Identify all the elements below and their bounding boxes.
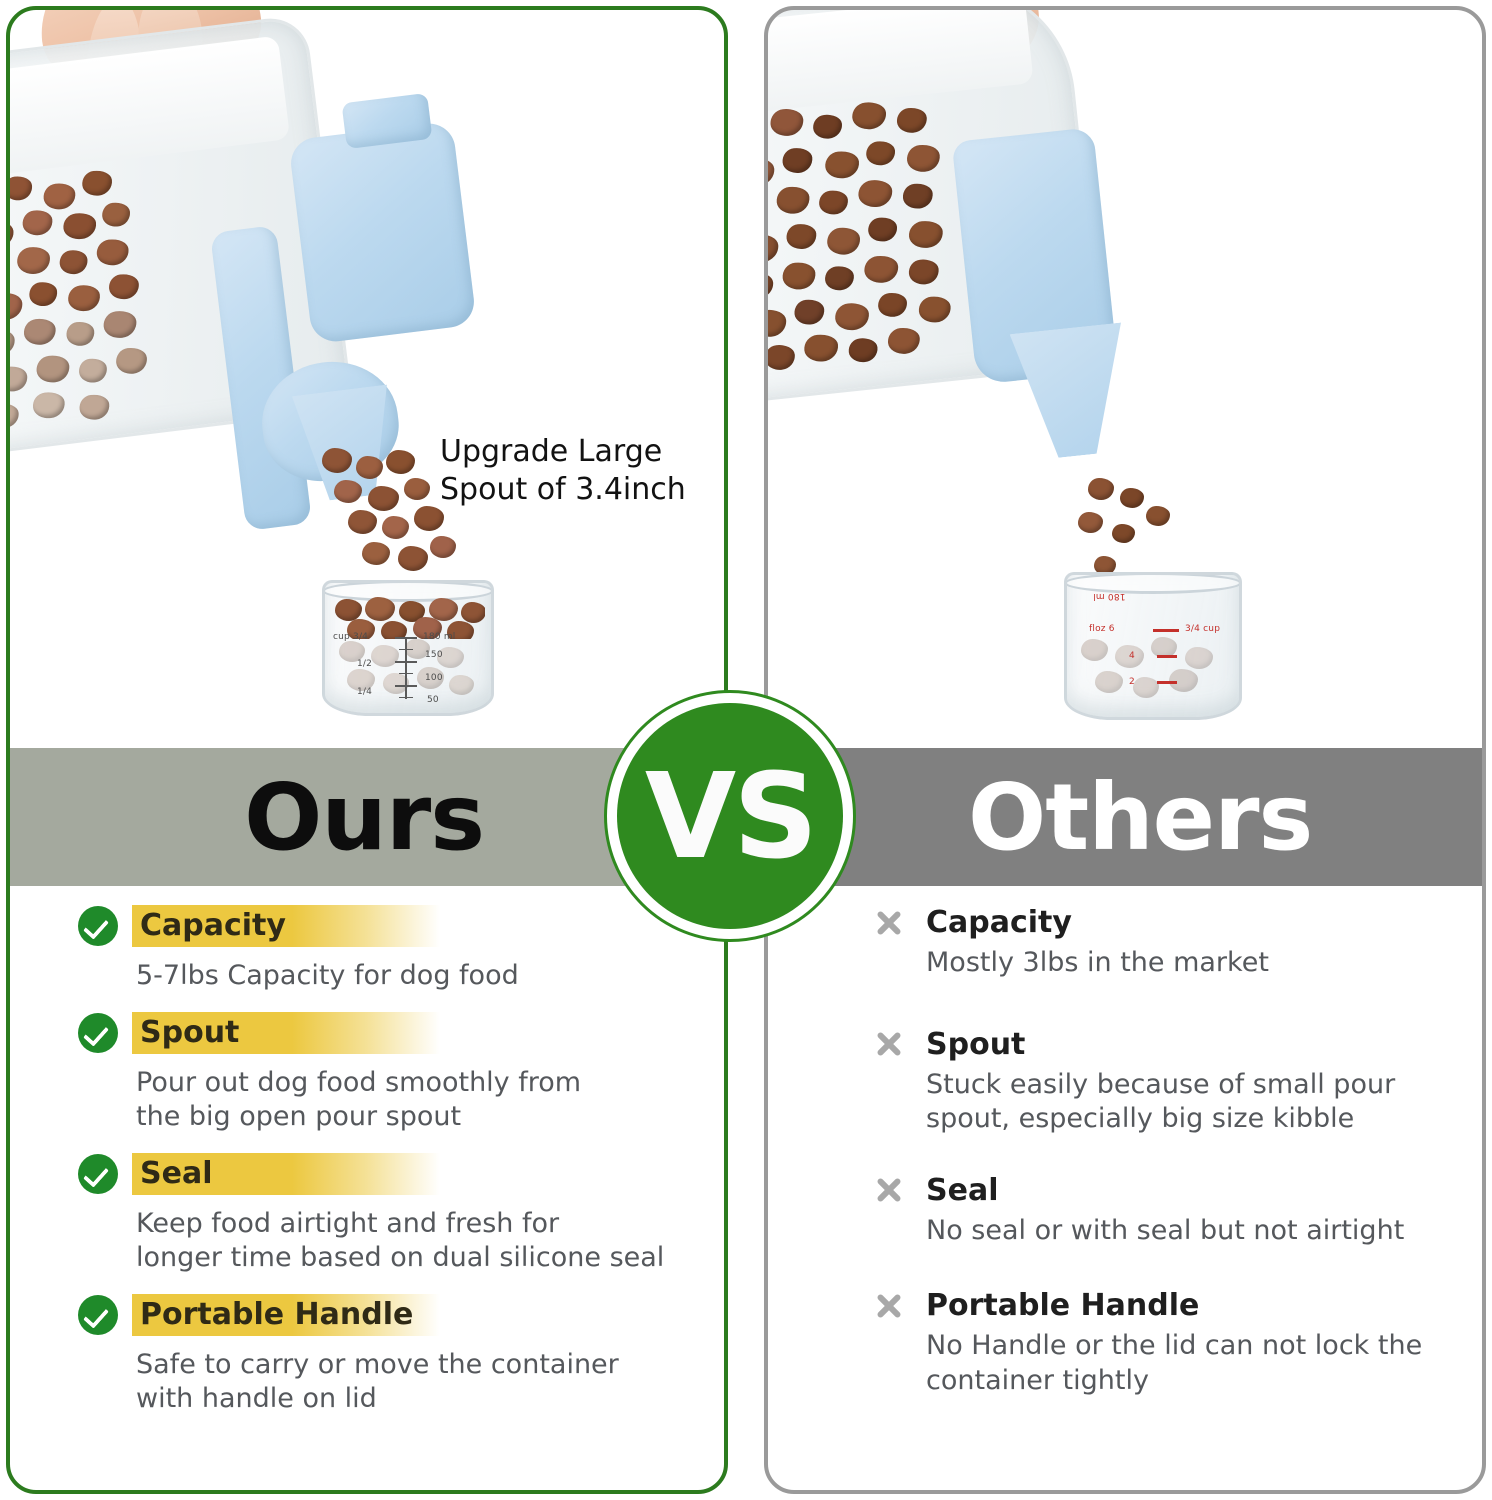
cup-rim [1064,572,1242,594]
cup-mark-3-4: cup 3/4 [333,632,368,642]
vs-badge: VS [604,690,856,942]
feature-description: Stuck easily because of small pour spout… [926,1068,1472,1137]
cup-mark-1-4: 1/4 [357,687,372,697]
vs-badge-circle: VS [617,703,843,929]
cup-mark-180ml: 180 ml [423,632,456,642]
ours-banner-label: Ours [244,764,484,871]
check-icon [78,1154,118,1194]
x-icon [872,1027,906,1061]
x-icon [872,1289,906,1323]
container-cap-large [288,121,477,345]
feature-title: Seal [926,1173,998,1208]
feature-description: Safe to carry or move the container with… [136,1348,693,1417]
feature-description: No seal or with seal but not airtight [926,1214,1472,1249]
cup-mark-100: 100 [425,673,443,683]
ours-feature-list: Capacity 5-7lbs Capacity for dog food Sp… [78,905,693,1429]
feature-item-seal: Seal Keep food airtight and fresh for lo… [78,1153,693,1276]
cup-mark-floz6: floz 6 [1089,624,1115,634]
cup-mark-4: 4 [1129,651,1135,661]
feature-description: Keep food airtight and fresh for longer … [136,1207,693,1276]
ours-product-photo: cup 3/4 1/2 1/4 180 ml 150 100 50 Upgrad… [10,10,724,738]
feature-title: Capacity [132,905,440,947]
feature-title: Capacity [926,905,1072,940]
feature-item-spout: Spout Pour out dog food smoothly from th… [78,1012,693,1135]
check-icon [78,906,118,946]
others-banner-label: Others [968,764,1312,871]
vs-label: VS [645,757,815,875]
feature-title: Portable Handle [132,1294,440,1336]
feature-item-portable-handle: Portable Handle Safe to carry or move th… [78,1294,693,1417]
feature-title: Portable Handle [926,1288,1199,1323]
check-icon [78,1013,118,1053]
feature-item-spout: Spout Stuck easily because of small pour… [872,1027,1472,1137]
cup-mark-50: 50 [427,695,439,705]
cup-scale-axis [1153,629,1179,632]
feature-item-seal: Seal No seal or with seal but not airtig… [872,1173,1472,1249]
x-icon [872,1173,906,1207]
measuring-cup: 180 ml floz 6 3/4 cup 4 2 [1064,572,1242,720]
feature-description: Mostly 3lbs in the market [926,946,1472,981]
cup-mark-3-4cup: 3/4 cup [1185,624,1220,634]
feature-title: Spout [132,1012,440,1054]
feature-item-capacity: Capacity 5-7lbs Capacity for dog food [78,905,693,994]
cup-mark-180ml: 180 ml [1093,591,1126,601]
ours-photo-caption: Upgrade Large Spout of 3.4inch [440,433,686,508]
others-banner: Others [768,748,1482,886]
pour-spout-small [1010,322,1135,461]
feature-description: No Handle or the lid can not lock the co… [926,1329,1472,1398]
x-icon [872,906,906,940]
others-product-photo: 180 ml floz 6 3/4 cup 4 2 Small nozzle 1… [768,10,1482,738]
cup-mark-2: 2 [1129,677,1135,687]
feature-description: Pour out dog food smoothly from the big … [136,1066,693,1135]
cup-mark-150: 150 [425,650,443,660]
comparison-infographic: cup 3/4 1/2 1/4 180 ml 150 100 50 Upgrad… [0,0,1492,1500]
cup-scale-axis [405,637,407,699]
feature-item-portable-handle: Portable Handle No Handle or the lid can… [872,1288,1472,1398]
feature-title: Seal [132,1153,440,1195]
cup-mark-1-2: 1/2 [357,659,372,669]
feature-item-capacity: Capacity Mostly 3lbs in the market [872,905,1472,981]
check-icon [78,1295,118,1335]
measuring-cup: cup 3/4 1/2 1/4 180 ml 150 100 50 [322,580,494,716]
others-feature-list: Capacity Mostly 3lbs in the market Spout… [872,905,1472,1410]
kibble-fill [768,87,985,405]
feature-title: Spout [926,1027,1025,1062]
feature-description: 5-7lbs Capacity for dog food [136,959,693,994]
